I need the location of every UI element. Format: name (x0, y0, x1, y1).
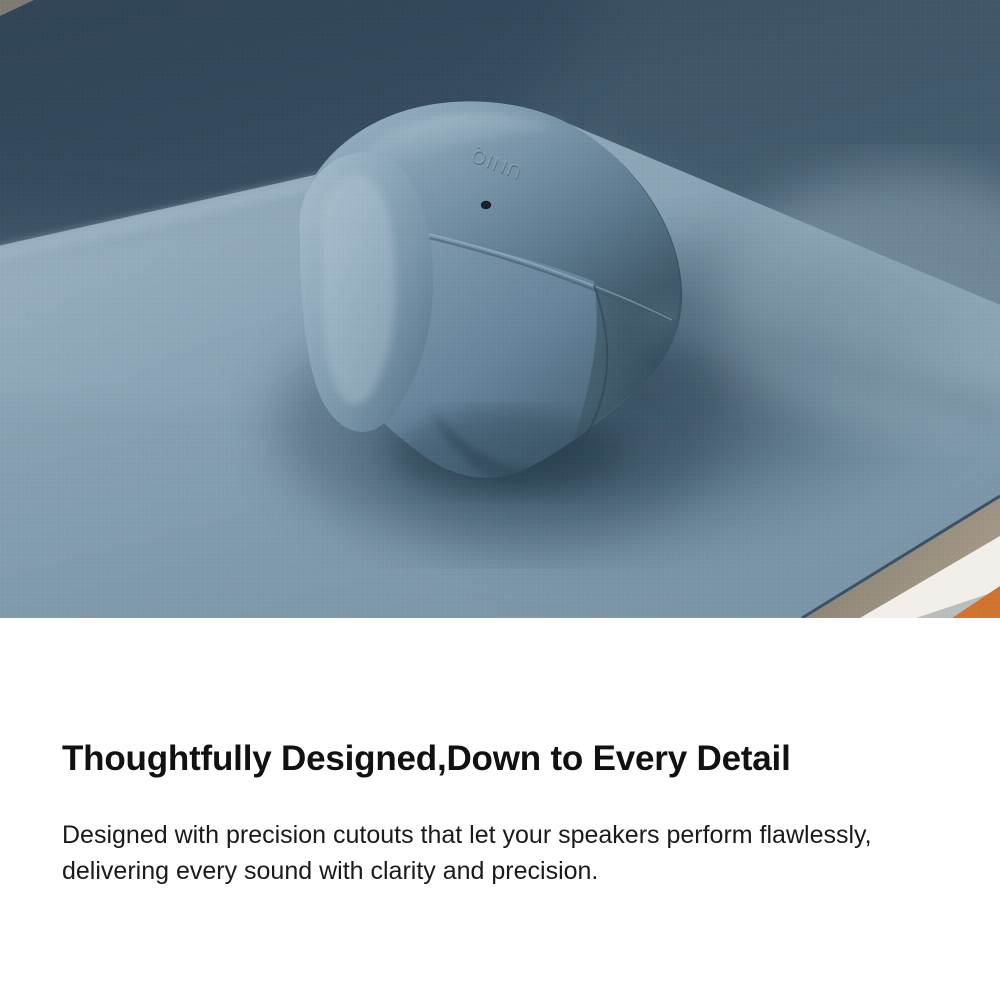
page-title: Thoughtfully Designed,Down to Every Deta… (62, 740, 791, 779)
mic-hole (481, 201, 491, 209)
description-paragraph: Designed with precision cutouts that let… (62, 818, 942, 889)
case-underside-shade (395, 410, 615, 494)
product-hero-image: UNIQ UNIQ (0, 0, 1000, 618)
marketing-copy-section: Thoughtfully Designed,Down to Every Deta… (0, 618, 1000, 1000)
product-photo-illustration: UNIQ UNIQ (0, 0, 1000, 618)
